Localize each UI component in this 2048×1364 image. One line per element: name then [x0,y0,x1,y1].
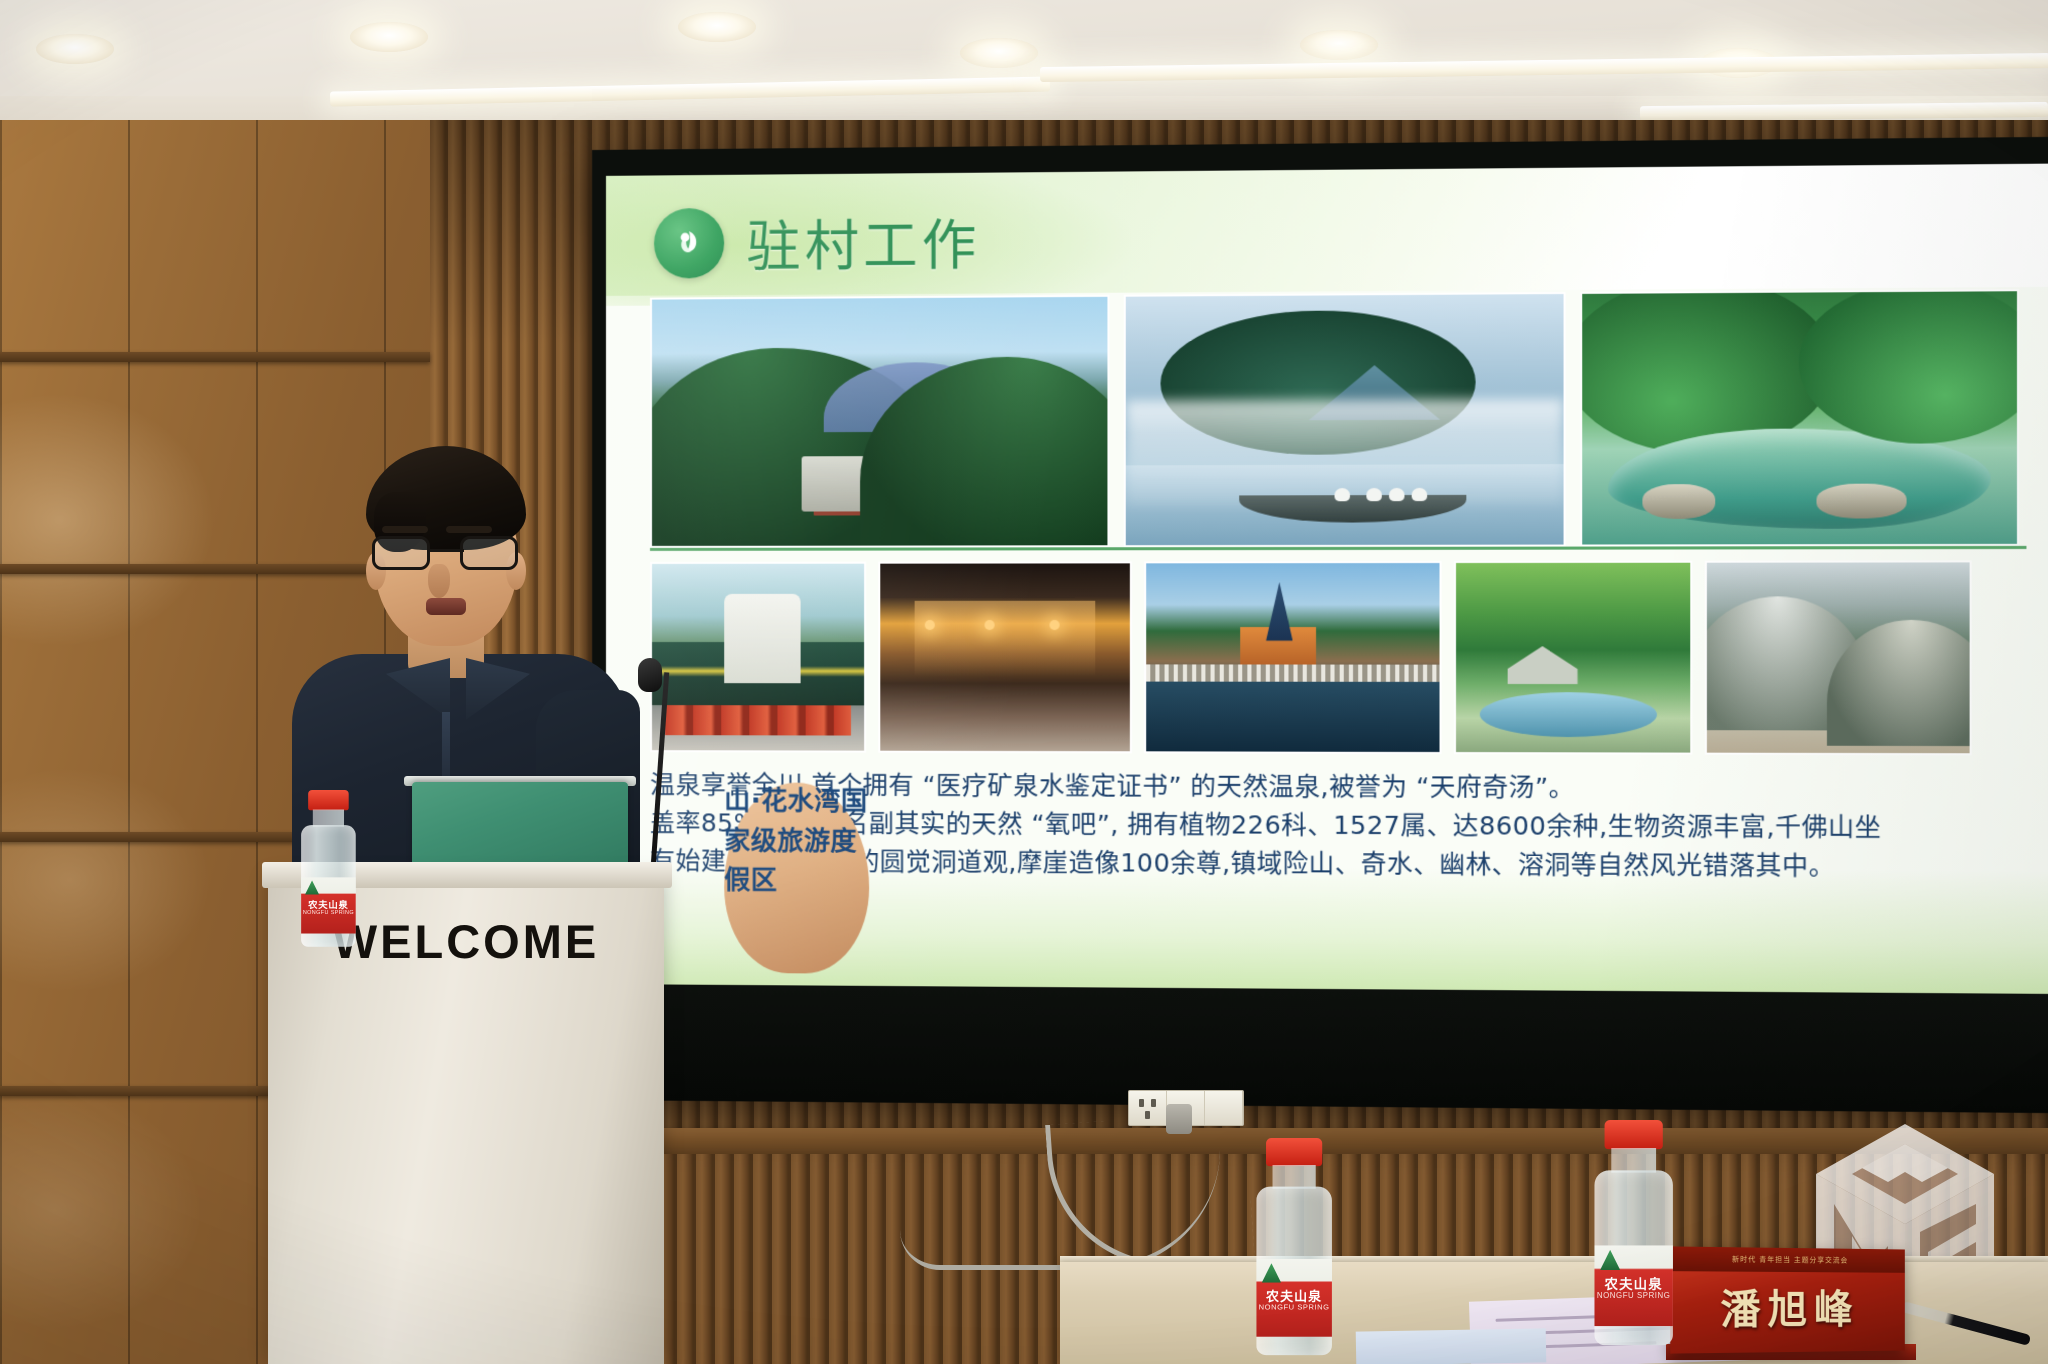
ceiling-downlight [350,22,428,52]
speaker-eyebrow [382,526,428,533]
bottle-cap [308,790,349,810]
eyeglasses-icon [372,536,522,572]
mountain-leaf-icon [1600,1250,1620,1270]
slide-photo-row-top [650,289,2026,548]
photo-detail-church-spire [1266,582,1293,641]
slide-divider [650,546,2026,551]
photo-detail-lamp [985,620,995,630]
slide-title-row: 驻村工作 [654,201,980,283]
leaf-badge-icon [654,207,724,278]
ceiling-downlight [36,34,114,64]
night-street-photo [878,561,1132,753]
bottle-label: 农夫山泉 NONGFU SPRING [1256,1259,1332,1337]
photo-detail-lamp [1050,620,1060,630]
bottle-brand-cn: 农夫山泉 [1258,1287,1329,1305]
glasses-lens [372,536,430,570]
bottle-brand-en: NONGFU SPRING [1258,1304,1329,1312]
mountain-leaf-icon [305,880,319,894]
ceiling-downlight [1300,30,1378,60]
laptop[interactable] [412,782,628,872]
bottle-neck [313,810,344,827]
bottle-cap [1266,1138,1322,1166]
bottle-neck [1273,1165,1316,1189]
bottle-brand-cn: 农夫山泉 [1597,1275,1671,1294]
slide-body-text: 山·花水湾国家级旅游度假区 温泉享誉全川,首个拥有 “医疗矿泉水鉴定证书” 的天… [650,766,2048,887]
name-card-name: 潘旭峰 [1720,1277,1859,1336]
photo-detail-river [1146,672,1439,752]
slide-photo-row-bottom [650,560,2026,755]
mountain-leaf-icon [1262,1263,1281,1282]
projection-screen-frame: 驻村工作 [592,137,2048,1114]
bottle-neck [1611,1148,1656,1173]
speaker-mouth [426,598,466,615]
ceiling-downlight [960,38,1038,68]
document-sheet[interactable] [1356,1328,1547,1364]
hot-spring-steam-photo [1124,292,1566,547]
slide-title: 驻村工作 [746,201,980,282]
photo-detail-mountain [824,362,1006,432]
green-pool-forest-photo [1580,289,2019,546]
photo-detail-rock [1816,484,1906,519]
bottle-brand-en: NONGFU SPRING [303,910,354,915]
photo-detail-red-letters [665,705,852,735]
riverside-church-photo [1144,561,1441,754]
snow-mountain-village-photo [1705,560,1972,755]
bottle-label: 农夫山泉 NONGFU SPRING [1594,1245,1672,1326]
slide-body-heading: 山·花水湾国家级旅游度假区 [724,782,869,973]
photo-detail-road [870,461,1080,546]
name-card: 新时代 青年担当 主题分享交流会 潘旭峰 [1670,1246,1905,1353]
name-card-banner: 新时代 青年担当 主题分享交流会 [1670,1246,1905,1272]
ceiling-downlight [678,12,756,42]
photo-detail-railing [1146,665,1439,682]
glasses-lens [460,536,518,570]
ceiling-linear-light [1040,53,2048,82]
bottle-brand-cn: 农夫山泉 [303,898,354,911]
photo-detail-lake [1479,692,1657,738]
bottle-brand-en: NONGFU SPRING [1597,1292,1671,1300]
bottle-cap [1605,1120,1663,1149]
wall-trim-rail [0,352,430,362]
projected-slide: 驻村工作 [606,163,2048,994]
photo-detail-village [801,456,919,511]
glasses-bridge [430,549,464,552]
photo-detail-pavilion [1507,646,1577,684]
photo-detail-lamp [925,620,935,630]
speaker-hair [366,446,526,550]
mountain-valley-resort-photo [650,295,1109,548]
garden-pavilion-photo [1454,561,1692,755]
photo-detail-gate-sign [724,594,800,684]
romantic-lane-train-photo [650,562,866,753]
microphone-icon [638,658,662,692]
speaker-eyebrow [446,526,492,533]
screen-lower-bezel [606,984,2048,1113]
presentation-scene: 驻村工作 [0,0,2048,1364]
bottle-label: 农夫山泉 NONGFU SPRING [301,877,356,933]
photo-detail-rock [1643,484,1716,519]
